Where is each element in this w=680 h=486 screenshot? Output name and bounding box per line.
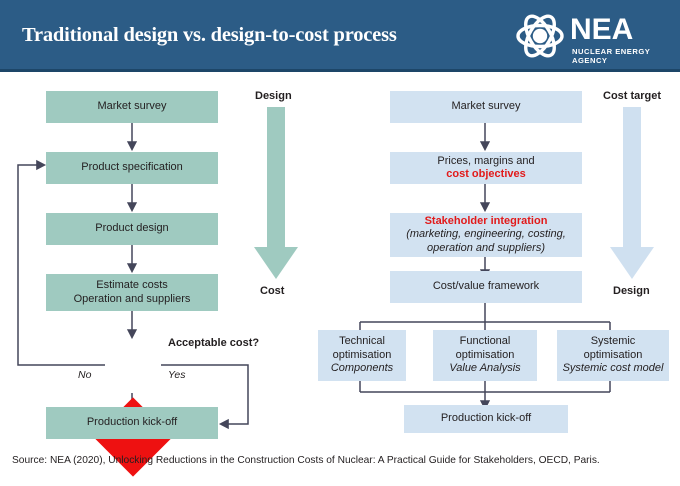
left-big-arrow-down-icon: [252, 107, 300, 282]
nea-logo: NEA NUCLEAR ENERGY AGENCY: [512, 9, 670, 64]
box-label-line3: Components: [318, 362, 406, 376]
decision-yes-label: Yes: [168, 369, 186, 381]
box-label: Product design: [46, 222, 218, 236]
left-box-estimate-costs[interactable]: Estimate costs Operation and suppliers: [46, 274, 218, 311]
connector-lines: [0, 72, 680, 442]
left-box-market-survey[interactable]: Market survey: [46, 91, 218, 123]
nea-atom-icon: [512, 9, 568, 64]
right-box-technical-optimisation[interactable]: Technical optimisation Components: [318, 330, 406, 381]
right-big-arrow-down-icon: [608, 107, 656, 282]
box-label: Market survey: [46, 100, 218, 114]
box-label-line2: Operation and suppliers: [46, 293, 218, 307]
source-note: Source: NEA (2020), Unlocking Reductions…: [12, 455, 600, 466]
right-box-prices-margins[interactable]: Prices, margins and cost objectives: [390, 152, 582, 184]
right-arrow-top-label: Cost target: [603, 90, 661, 102]
box-label-line2: cost objectives: [390, 168, 582, 182]
box-label: Production kick-off: [404, 412, 568, 426]
page-title: Traditional design vs. design-to-cost pr…: [22, 24, 397, 47]
box-label-line3: Systemic cost model: [557, 362, 669, 376]
box-label-line1: Prices, margins and: [390, 155, 582, 169]
box-label-line2: optimisation: [557, 349, 669, 363]
nea-nucleus-icon: [533, 29, 547, 43]
box-label-line1: Technical: [318, 335, 406, 349]
left-box-product-design[interactable]: Product design: [46, 213, 218, 245]
box-label: Market survey: [390, 100, 582, 114]
left-box-product-specification[interactable]: Product specification: [46, 152, 218, 184]
box-label-line2: optimisation: [433, 349, 537, 363]
header-bar: Traditional design vs. design-to-cost pr…: [0, 0, 680, 72]
box-label: Production kick-off: [46, 416, 218, 430]
right-box-market-survey[interactable]: Market survey: [390, 91, 582, 123]
right-box-cost-value-framework[interactable]: Cost/value framework: [390, 271, 582, 303]
box-label-line2: optimisation: [318, 349, 406, 363]
right-arrow-bottom-label: Design: [613, 285, 650, 297]
diagram-canvas: Market survey Product specification Prod…: [0, 72, 680, 442]
right-box-functional-optimisation[interactable]: Functional optimisation Value Analysis: [433, 330, 537, 381]
box-label-line1: Functional: [433, 335, 537, 349]
box-label-line3: operation and suppliers): [390, 242, 582, 256]
left-arrow-top-label: Design: [255, 90, 292, 102]
box-label-line2: (marketing, engineering, costing,: [390, 228, 582, 242]
nea-wordmark: NEA: [570, 13, 633, 47]
left-box-production-kick-off[interactable]: Production kick-off: [46, 407, 218, 439]
nea-subtitle: NUCLEAR ENERGY AGENCY: [572, 47, 670, 65]
box-label-line1: Systemic: [557, 335, 669, 349]
box-label-line1: Estimate costs: [46, 279, 218, 293]
box-label: Product specification: [46, 161, 218, 175]
right-box-stakeholder-integration[interactable]: Stakeholder integration (marketing, engi…: [390, 213, 582, 257]
decision-no-label: No: [78, 369, 91, 381]
box-label: Cost/value framework: [390, 280, 582, 294]
right-box-production-kick-off[interactable]: Production kick-off: [404, 405, 568, 433]
left-arrow-bottom-label: Cost: [260, 285, 284, 297]
right-box-systemic-optimisation[interactable]: Systemic optimisation Systemic cost mode…: [557, 330, 669, 381]
box-label-line3: Value Analysis: [433, 362, 537, 376]
decision-label: Acceptable cost?: [168, 337, 259, 349]
box-label-line1: Stakeholder integration: [390, 215, 582, 229]
